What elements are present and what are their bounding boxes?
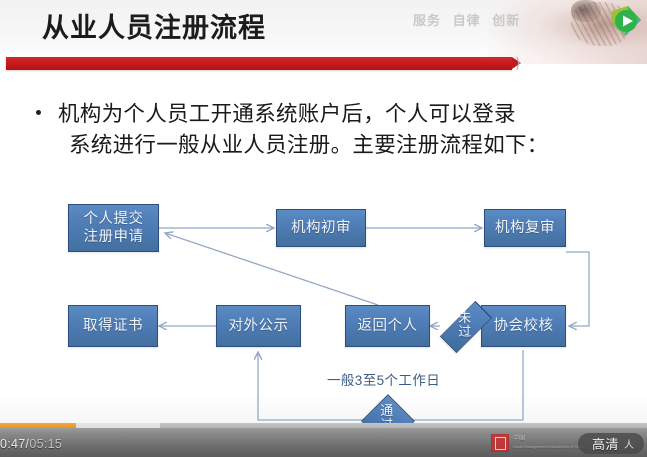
flow-node-second-review[interactable]: 机构复审	[484, 209, 566, 247]
person-icon: 人	[624, 436, 634, 451]
flow-node-submit-line1: 个人提交	[84, 210, 144, 228]
flow-node-submit[interactable]: 个人提交 注册申请	[68, 204, 159, 252]
flow-node-submit-line2: 注册申请	[84, 228, 144, 246]
flow-node-association-verify[interactable]: 协会校核	[481, 305, 566, 347]
flow-node-obtain-certificate[interactable]: 取得证书	[68, 305, 158, 347]
flow-note-processing-time: 一般3至5个工作日	[327, 369, 440, 389]
video-current-time: 0:47	[0, 437, 26, 451]
seal-icon	[491, 434, 509, 452]
flow-node-public-announcement[interactable]: 对外公示	[216, 305, 301, 347]
quality-selector-button[interactable]: 高清 人	[578, 433, 644, 454]
video-time-display: 0:47/05:15	[0, 437, 62, 451]
flow-decision-fail-label: 未 过	[451, 311, 479, 339]
flow-node-public-announcement-label: 对外公示	[229, 317, 289, 335]
tencent-video-logo-icon[interactable]	[608, 3, 644, 39]
flow-node-initial-review-label: 机构初审	[291, 219, 351, 237]
flow-node-return-to-individual[interactable]: 返回个人	[345, 305, 430, 347]
flow-node-return-to-individual-label: 返回个人	[358, 317, 418, 335]
channel-watermark: 中国 Asset Management Association of China	[491, 432, 585, 454]
flow-node-obtain-certificate-label: 取得证书	[83, 317, 143, 335]
watermark-line-2: Asset Management Association of China	[513, 443, 585, 450]
flow-decision-pass-line1: 通	[373, 404, 401, 418]
watermark-text: 中国 Asset Management Association of China	[513, 436, 585, 450]
quality-label: 高清	[592, 434, 619, 453]
flow-node-association-verify-label: 协会校核	[494, 317, 554, 335]
video-total-time: 05:15	[29, 437, 62, 451]
presentation-slide: 从业人员注册流程 服务 自律 创新 ⟩ 机构为个人员工开通系统账户后，个人可以登…	[0, 0, 647, 457]
video-player-screen: 从业人员注册流程 服务 自律 创新 ⟩ 机构为个人员工开通系统账户后，个人可以登…	[0, 0, 647, 457]
registration-flowchart: 个人提交 注册申请 机构初审 机构复审 取得证书 对外公示 返回个人 协	[0, 0, 647, 457]
flow-decision-fail-line2: 过	[451, 325, 479, 339]
flow-node-second-review-label: 机构复审	[495, 219, 555, 237]
watermark-line-1: 中国	[513, 436, 585, 443]
flow-node-initial-review[interactable]: 机构初审	[276, 209, 366, 247]
video-control-bar: 0:47/05:15 中国 Asset Management Associati…	[0, 428, 647, 457]
flow-decision-fail-line1: 未	[451, 311, 479, 325]
